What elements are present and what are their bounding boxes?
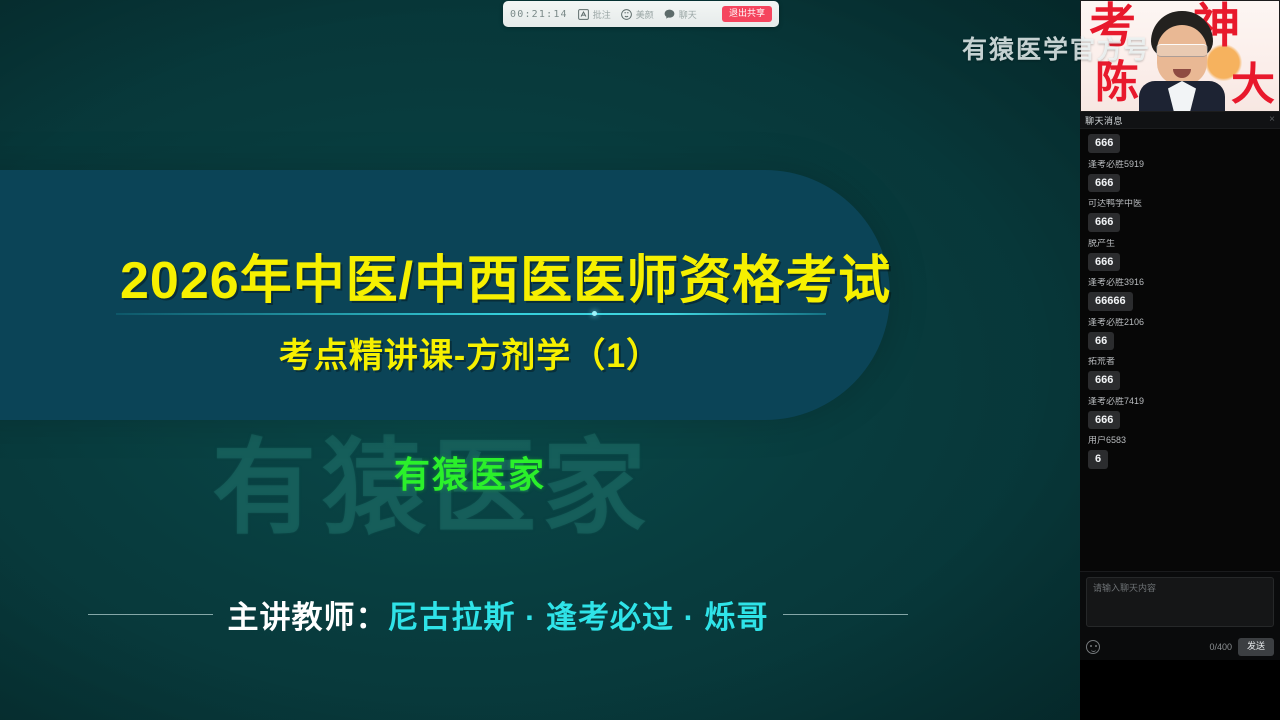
toolbar-label-chat: 聊天	[679, 8, 697, 21]
backdrop-char-4: 大	[1231, 63, 1275, 107]
chat-header: 聊天消息 ×	[1080, 112, 1280, 129]
meeting-toolbar[interactable]: 00:21:14 批注 美颜	[503, 1, 779, 27]
chat-message: 逢考必胜5919 666	[1080, 160, 1280, 193]
chat-input[interactable]	[1086, 577, 1274, 627]
slide-brand: 有猿医家	[120, 446, 820, 498]
teacher-rule-right	[783, 614, 908, 615]
chat-message-user: 拓荒者	[1088, 357, 1280, 367]
chat-message-text: 66666	[1088, 292, 1133, 311]
teacher-row: 主讲教师：尼古拉斯 · 逢考必过 · 烁哥	[88, 592, 908, 637]
slide-subtitle: 考点精讲课-方剂学（1）	[120, 328, 820, 377]
chat-title: 聊天消息	[1085, 114, 1123, 127]
chat-message-text: 666	[1088, 213, 1120, 232]
chat-message-user: 逢考必胜5919	[1088, 160, 1280, 170]
chat-message: 666	[1080, 133, 1280, 153]
chat-message: 可达鸭学中医 666	[1080, 199, 1280, 232]
chat-message: 拓荒者 666	[1080, 357, 1280, 390]
toolbar-item-annotate[interactable]: 批注	[577, 8, 611, 21]
chat-message-text: 66	[1088, 332, 1114, 351]
chat-message-text: 666	[1088, 253, 1120, 272]
toolbar-label-annotate: 批注	[593, 8, 611, 21]
chat-icon	[663, 8, 676, 21]
shared-slide: 有猿医家 2026年中医/中西医医师资格考试 考点精讲课-方剂学（1） 有猿医家…	[0, 0, 1080, 720]
beauty-icon	[620, 8, 633, 21]
chat-message-user: 逢考必胜3916	[1088, 278, 1280, 288]
chat-message-user: 逢考必胜2106	[1088, 318, 1280, 328]
chat-message-list[interactable]: 666 逢考必胜5919 666 可达鸭学中医 666 脱产生 666 逢考必胜…	[1080, 129, 1280, 571]
emoji-icon[interactable]	[1086, 640, 1100, 654]
chat-message: 用户6583 6	[1080, 436, 1280, 469]
title-divider	[116, 313, 826, 315]
exit-share-button[interactable]: 退出共享	[722, 6, 772, 22]
chat-message-user: 可达鸭学中医	[1088, 199, 1280, 209]
close-icon[interactable]: ×	[1269, 115, 1275, 125]
backdrop-char-3: 陈	[1095, 61, 1139, 105]
chat-message: 逢考必胜7419 666	[1080, 397, 1280, 430]
chat-actions: 0/400 发送	[1086, 638, 1274, 656]
chat-message-user: 脱产生	[1088, 239, 1280, 249]
toolbar-item-beauty[interactable]: 美颜	[620, 8, 654, 21]
teacher-label: 主讲教师：	[227, 600, 387, 635]
channel-watermark: 有猿医学官方号	[962, 30, 1151, 66]
chat-message: 逢考必胜3916 66666	[1080, 278, 1280, 311]
char-counter: 0/400	[1209, 642, 1232, 652]
live-class-screen: 有猿医家 2026年中医/中西医医师资格考试 考点精讲课-方剂学（1） 有猿医家…	[0, 0, 1280, 720]
chat-message: 逢考必胜2106 66	[1080, 318, 1280, 351]
teacher-credit: 主讲教师：尼古拉斯 · 逢考必过 · 烁哥	[227, 592, 768, 637]
teacher-name: 尼古拉斯 · 逢考必过 · 烁哥	[387, 600, 768, 635]
chat-message-text: 6	[1088, 450, 1108, 469]
slide-title: 2026年中医/中西医医师资格考试	[120, 238, 820, 313]
glasses-icon	[1156, 44, 1208, 57]
share-timer: 00:21:14	[510, 9, 568, 20]
right-sidebar: 考 神 陈 大 有猿医学官方号 聊天消息 ×	[1080, 0, 1280, 720]
chat-message-user: 用户6583	[1088, 436, 1280, 446]
chat-message-text: 666	[1088, 371, 1120, 390]
sidebar-filler	[1080, 660, 1280, 720]
annotate-icon	[577, 8, 590, 21]
chat-message-user: 逢考必胜7419	[1088, 397, 1280, 407]
send-button[interactable]: 发送	[1238, 638, 1274, 656]
chat-message-text: 666	[1088, 134, 1120, 153]
chat-composer: 0/400 发送	[1080, 571, 1280, 660]
chat-panel: 聊天消息 × 666 逢考必胜5919 666 可达鸭学中医 666 脱产生	[1080, 112, 1280, 660]
chat-message-text: 666	[1088, 174, 1120, 193]
toolbar-item-chat[interactable]: 聊天	[663, 8, 697, 21]
chat-message: 脱产生 666	[1080, 239, 1280, 272]
teacher-rule-left	[88, 614, 213, 615]
chat-message-text: 666	[1088, 411, 1120, 430]
toolbar-label-beauty: 美颜	[636, 8, 654, 21]
